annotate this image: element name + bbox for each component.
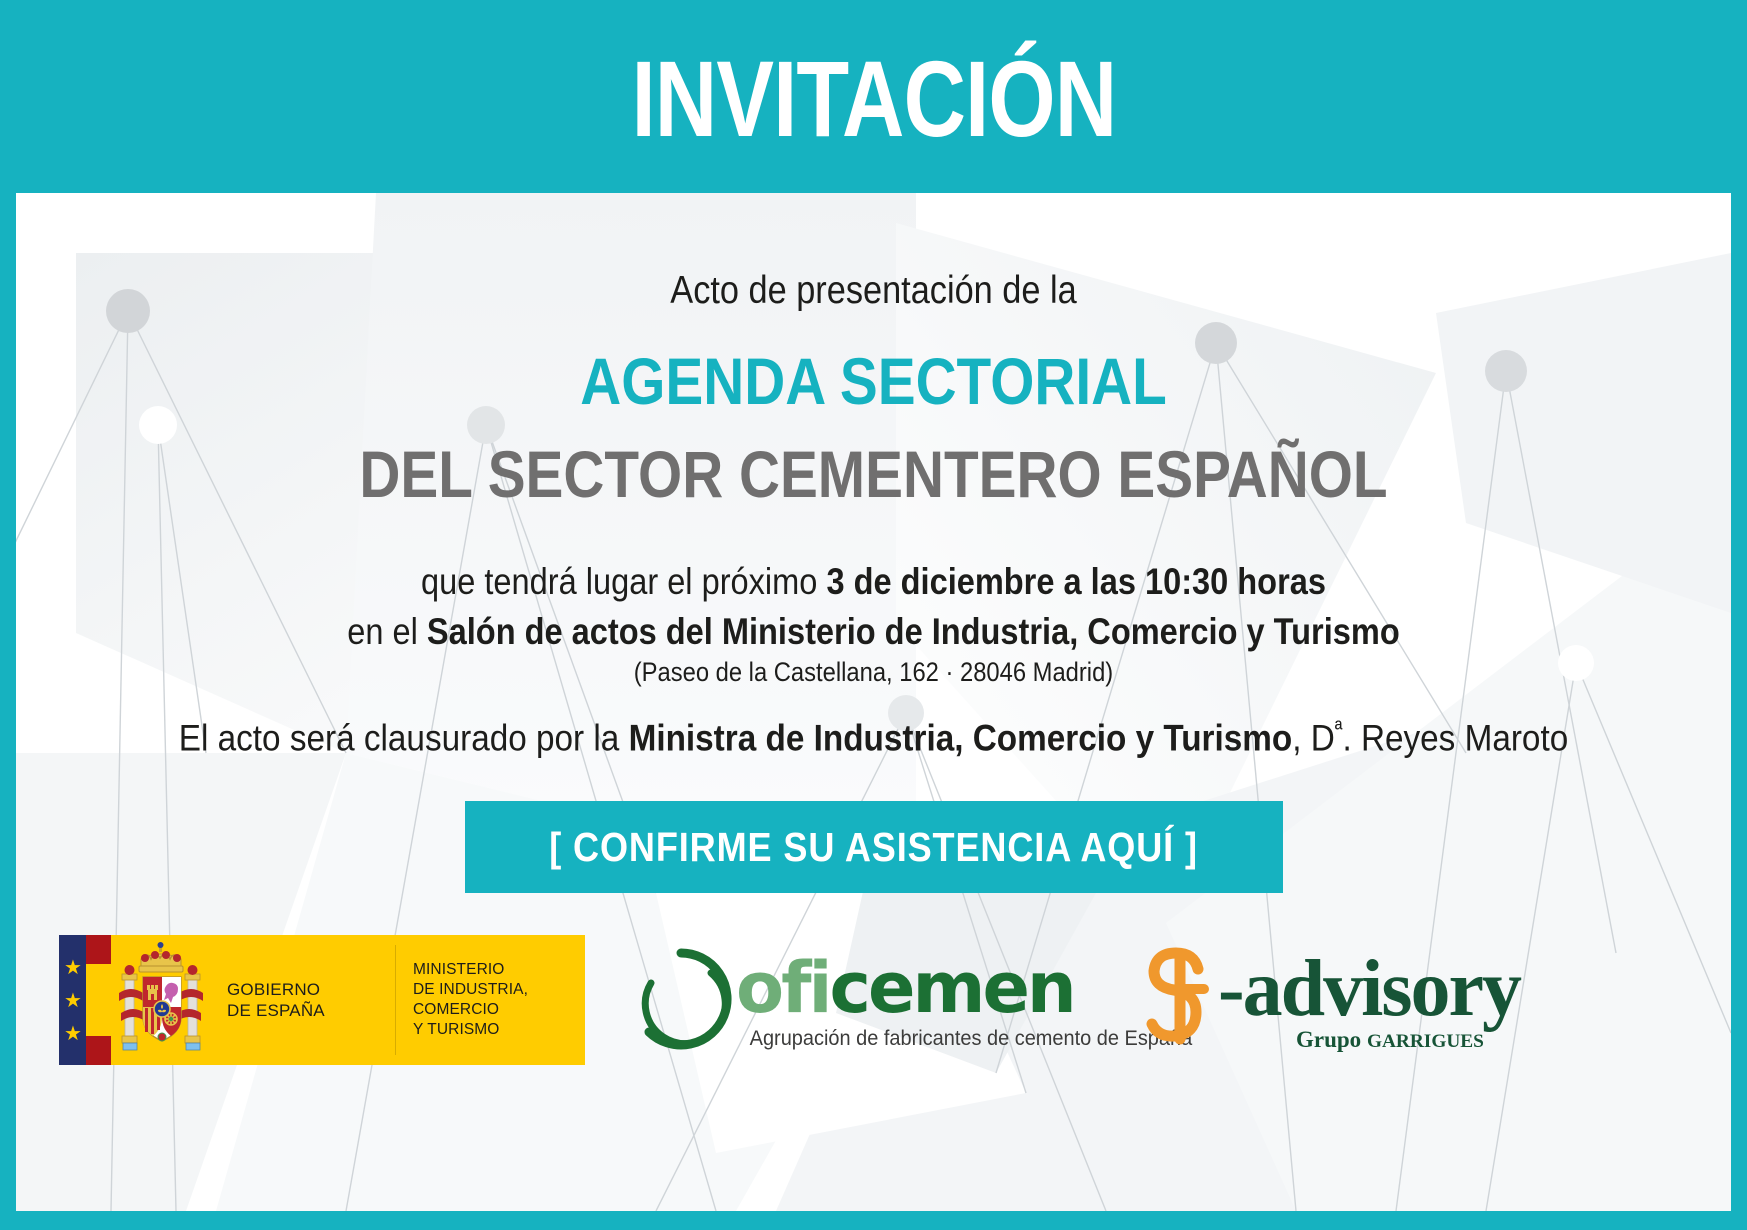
grupo-garrigues-name: GARRIGUES [1367,1031,1484,1052]
closing-remarks-line: El acto será clausurado por la Ministra … [102,716,1646,759]
g-advisory-wordmark: -advisory [1218,949,1520,1029]
event-datetime-line: que tendrá lugar el próximo 3 de diciemb… [119,561,1628,603]
oficemen-logo[interactable]: oficemen Agrupación de fabricantes de ce… [616,935,1066,1065]
event-venue-value: Salón de actos del Ministerio de Industr… [427,611,1400,652]
title-sector-cementero: DEL SECTOR CEMENTERO ESPAÑOL [136,436,1611,512]
gobierno-line-2: DE ESPAÑA [227,1000,395,1021]
g-advisory-logo[interactable]: -advisory Grupo GARRIGUES [1126,935,1526,1065]
logo-strip: ★ ★ ★ [16,933,1731,1083]
ministerio-line-3: Y TURISMO [413,1020,585,1040]
event-datetime-prefix: que tendrá lugar el próximo [421,561,826,602]
eu-star-icon: ★ [64,991,82,1011]
ministerio-line-2: DE INDUSTRIA, COMERCIO [413,980,585,1020]
title-agenda-sectorial: AGENDA SECTORIAL [136,343,1611,419]
confirm-attendance-button[interactable]: [ CONFIRME SU ASISTENCIA AQUÍ ] [465,801,1283,893]
footer-band [0,1211,1747,1230]
gobierno-line-1: GOBIERNO [227,979,395,1000]
gobierno-de-espana-logo[interactable]: ★ ★ ★ [59,935,585,1065]
header-band: INVITACIÓN [0,0,1747,193]
ministerio-line-1: MINISTERIO [413,960,585,980]
event-datetime-value: 3 de diciembre a las 10:30 horas [826,561,1326,602]
closing-prefix: El acto será clausurado por la [179,717,629,758]
closing-minister-name: . Reyes Maroto [1342,717,1568,758]
oficemen-wordmark: oficemen [736,953,1074,1023]
ministerio-wordmark: MINISTERIO DE INDUSTRIA, COMERCIO Y TURI… [396,935,585,1065]
grupo-garrigues-label: Grupo GARRIGUES [1296,1027,1484,1053]
spain-flag-bar-icon: ★ ★ ★ [59,935,111,1065]
closing-minister-title: Ministra de Industria, Comercio y Turism… [629,717,1293,758]
closing-ordinal-indicator: ª [1335,716,1343,742]
oficemen-word-light: ofi [736,947,830,1029]
event-venue-prefix: en el [347,611,427,652]
event-address: (Paseo de la Castellana, 162 · 28046 Mad… [119,657,1628,688]
eu-star-icon: ★ [64,958,82,978]
g-advisory-monogram-icon [1136,943,1228,1049]
intro-line: Acto de presentación de la [119,269,1628,313]
oficemen-word-dark: cemen [830,947,1074,1029]
page-title: INVITACIÓN [631,45,1116,153]
spain-coat-of-arms-icon [111,935,227,1065]
eu-star-icon: ★ [64,1024,82,1044]
invitation-card: INVITACIÓN [0,0,1747,1230]
card-body: Acto de presentación de la AGENDA SECTOR… [16,193,1731,1211]
grupo-garrigues-prefix: Grupo [1296,1027,1367,1052]
confirm-attendance-label: [ CONFIRME SU ASISTENCIA AQUÍ ] [550,824,1199,871]
oficemen-circles-icon [629,947,733,1051]
gobierno-wordmark: GOBIERNO DE ESPAÑA [227,935,395,1065]
event-venue-line: en el Salón de actos del Ministerio de I… [119,611,1628,653]
closing-suffix-a: , D [1292,717,1335,758]
